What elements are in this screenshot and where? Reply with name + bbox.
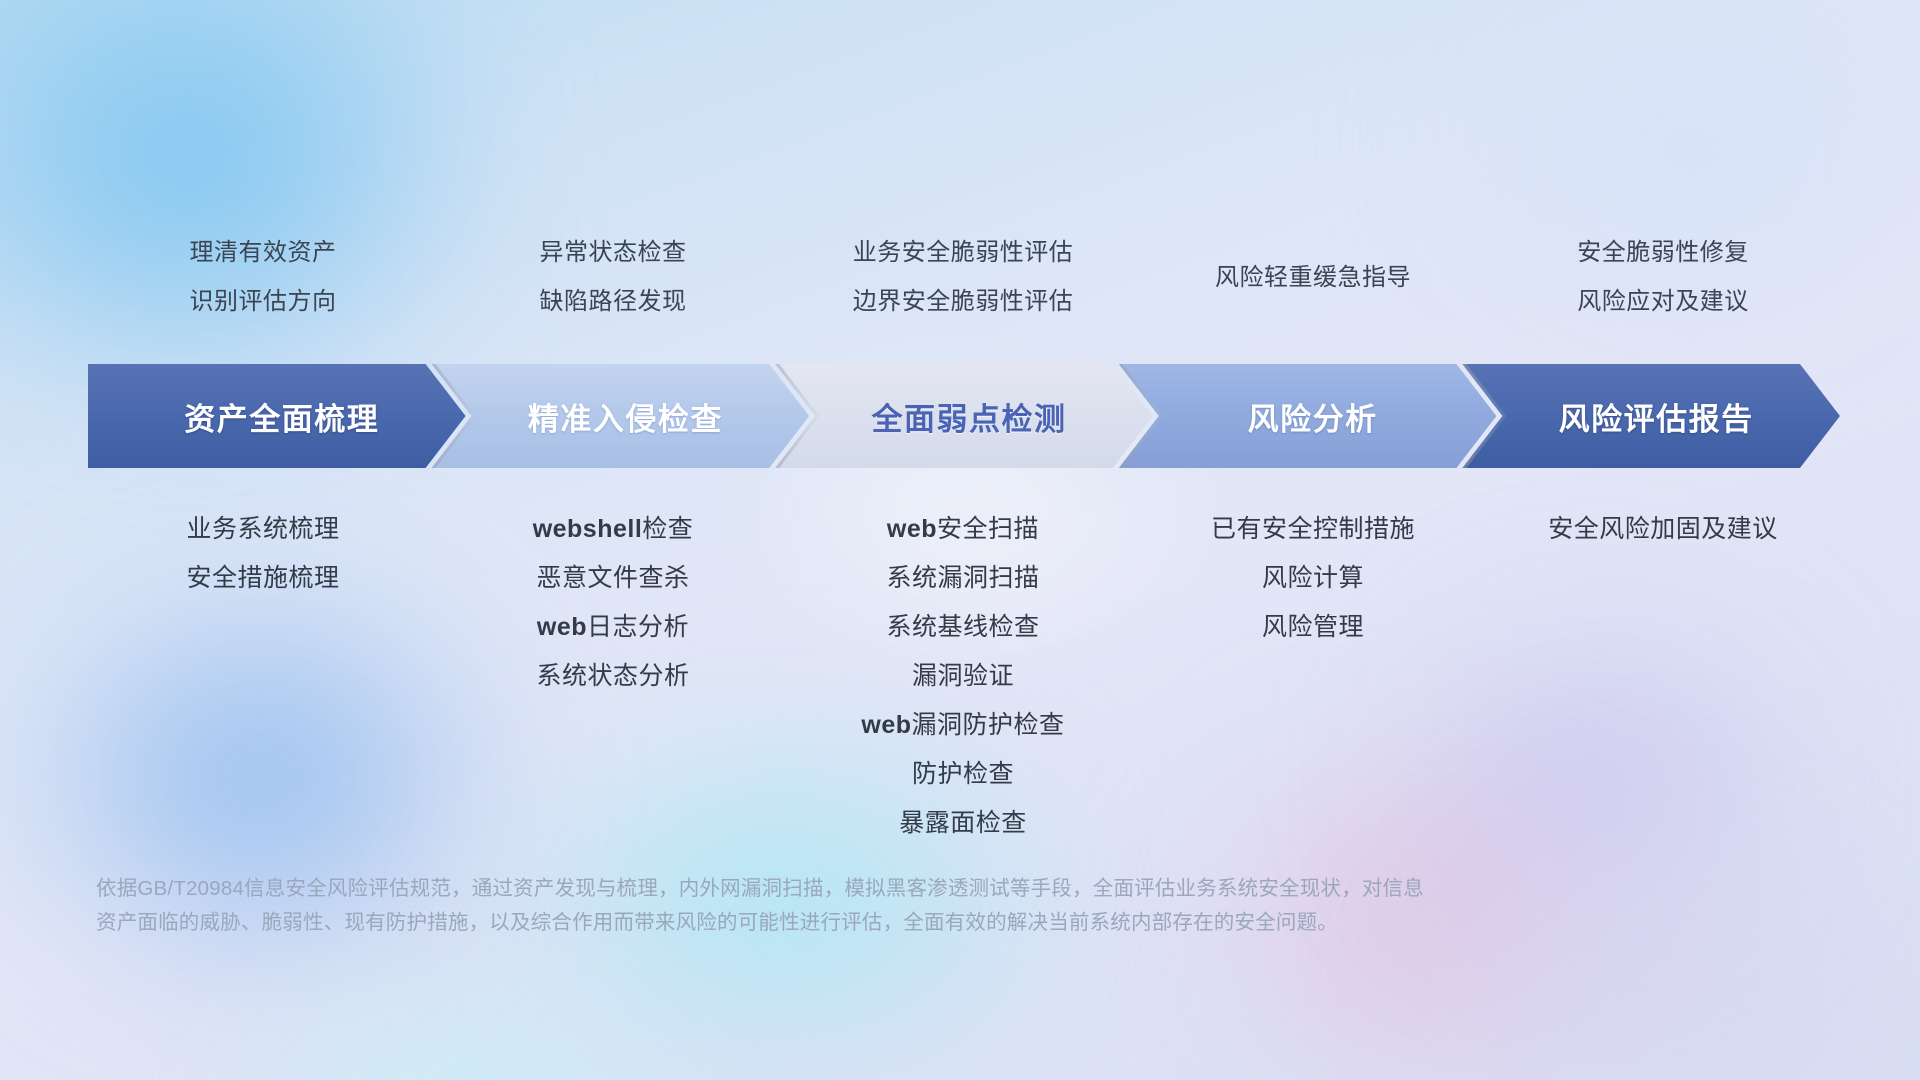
input-label: 理清有效资产 (88, 228, 438, 277)
chevron-stage-label: 全面弱点检测 (861, 394, 1066, 439)
input-label: 识别评估方向 (88, 277, 438, 326)
chevron-stage-3[interactable]: 全面弱点检测 (775, 364, 1153, 468)
footer-line-1: 依据GB/T20984信息安全风险评估规范，通过资产发现与梳理，内外网漏洞扫描，… (96, 872, 1656, 906)
input-label: 安全脆弱性修复 (1488, 228, 1838, 277)
stage-outputs-1: 业务系统梳理 安全措施梳理 (88, 505, 438, 848)
slide-canvas: 理清有效资产 识别评估方向 异常状态检查 缺陷路径发现 业务安全脆弱性评估 边界… (0, 0, 1920, 1080)
stage-inputs-4: 风险轻重缓急指导 (1138, 228, 1488, 326)
stage-inputs-row: 理清有效资产 识别评估方向 异常状态检查 缺陷路径发现 业务安全脆弱性评估 边界… (88, 228, 1838, 326)
stage-inputs-3: 业务安全脆弱性评估 边界安全脆弱性评估 (788, 228, 1138, 326)
output-label: 风险计算 (1138, 554, 1488, 603)
output-label: 系统基线检查 (788, 603, 1138, 652)
chevron-stage-5[interactable]: 风险评估报告 (1462, 364, 1840, 468)
stage-outputs-2: webshell检查 恶意文件查杀 web日志分析 系统状态分析 (438, 505, 788, 848)
output-label-cjk: 日志分析 (587, 613, 689, 641)
chevron-stage-label: 风险分析 (1238, 394, 1378, 439)
output-label: 风险管理 (1138, 603, 1488, 652)
input-label: 风险应对及建议 (1488, 277, 1838, 326)
output-label: 已有安全控制措施 (1138, 505, 1488, 554)
output-label-cjk: 检查 (642, 515, 693, 543)
stage-inputs-5: 安全脆弱性修复 风险应对及建议 (1488, 228, 1838, 326)
output-label: 暴露面检查 (788, 799, 1138, 848)
process-chevron-bar: 资产全面梳理 精准入侵检查 全面弱点检测 风险分析 风险评估报告 (88, 364, 1840, 468)
input-label: 缺陷路径发现 (438, 277, 788, 326)
stage-outputs-5: 安全风险加固及建议 (1488, 505, 1838, 848)
output-label: web安全扫描 (788, 505, 1138, 554)
input-label: 业务安全脆弱性评估 (788, 228, 1138, 277)
chevron-stage-label: 资产全面梳理 (174, 394, 379, 439)
output-label: 系统漏洞扫描 (788, 554, 1138, 603)
output-label: web日志分析 (438, 603, 788, 652)
input-label: 边界安全脆弱性评估 (788, 277, 1138, 326)
chevron-stage-2[interactable]: 精准入侵检查 (432, 364, 810, 468)
output-label: 安全风险加固及建议 (1488, 505, 1838, 554)
output-label: web漏洞防护检查 (788, 701, 1138, 750)
chevron-stage-label: 风险评估报告 (1549, 394, 1754, 439)
chevron-stage-1[interactable]: 资产全面梳理 (88, 364, 466, 468)
footer-line-2: 资产面临的威胁、脆弱性、现有防护措施，以及综合作用而带来风险的可能性进行评估，全… (96, 906, 1656, 940)
output-label: webshell检查 (438, 505, 788, 554)
output-label-cjk: 漏洞防护检查 (912, 711, 1065, 739)
output-label-latin: web (861, 711, 911, 739)
input-label: 异常状态检查 (438, 228, 788, 277)
output-label-cjk: 安全扫描 (937, 515, 1039, 543)
output-label-latin: web (537, 613, 587, 641)
output-label: 恶意文件查杀 (438, 554, 788, 603)
stage-outputs-3: web安全扫描 系统漏洞扫描 系统基线检查 漏洞验证 web漏洞防护检查 防护检… (788, 505, 1138, 848)
chevron-stage-4[interactable]: 风险分析 (1119, 364, 1497, 468)
stage-outputs-row: 业务系统梳理 安全措施梳理 webshell检查 恶意文件查杀 web日志分析 … (88, 505, 1838, 848)
chevron-stage-label: 精准入侵检查 (518, 394, 723, 439)
output-label: 安全措施梳理 (88, 554, 438, 603)
stage-inputs-1: 理清有效资产 识别评估方向 (88, 228, 438, 326)
output-label-latin: web (887, 515, 937, 543)
footer-description: 依据GB/T20984信息安全风险评估规范，通过资产发现与梳理，内外网漏洞扫描，… (96, 872, 1656, 940)
stage-inputs-2: 异常状态检查 缺陷路径发现 (438, 228, 788, 326)
output-label: 系统状态分析 (438, 652, 788, 701)
output-label: 漏洞验证 (788, 652, 1138, 701)
output-label: 业务系统梳理 (88, 505, 438, 554)
output-label: 防护检查 (788, 750, 1138, 799)
stage-outputs-4: 已有安全控制措施 风险计算 风险管理 (1138, 505, 1488, 848)
input-label: 风险轻重缓急指导 (1138, 253, 1488, 302)
output-label-latin: webshell (533, 515, 643, 543)
